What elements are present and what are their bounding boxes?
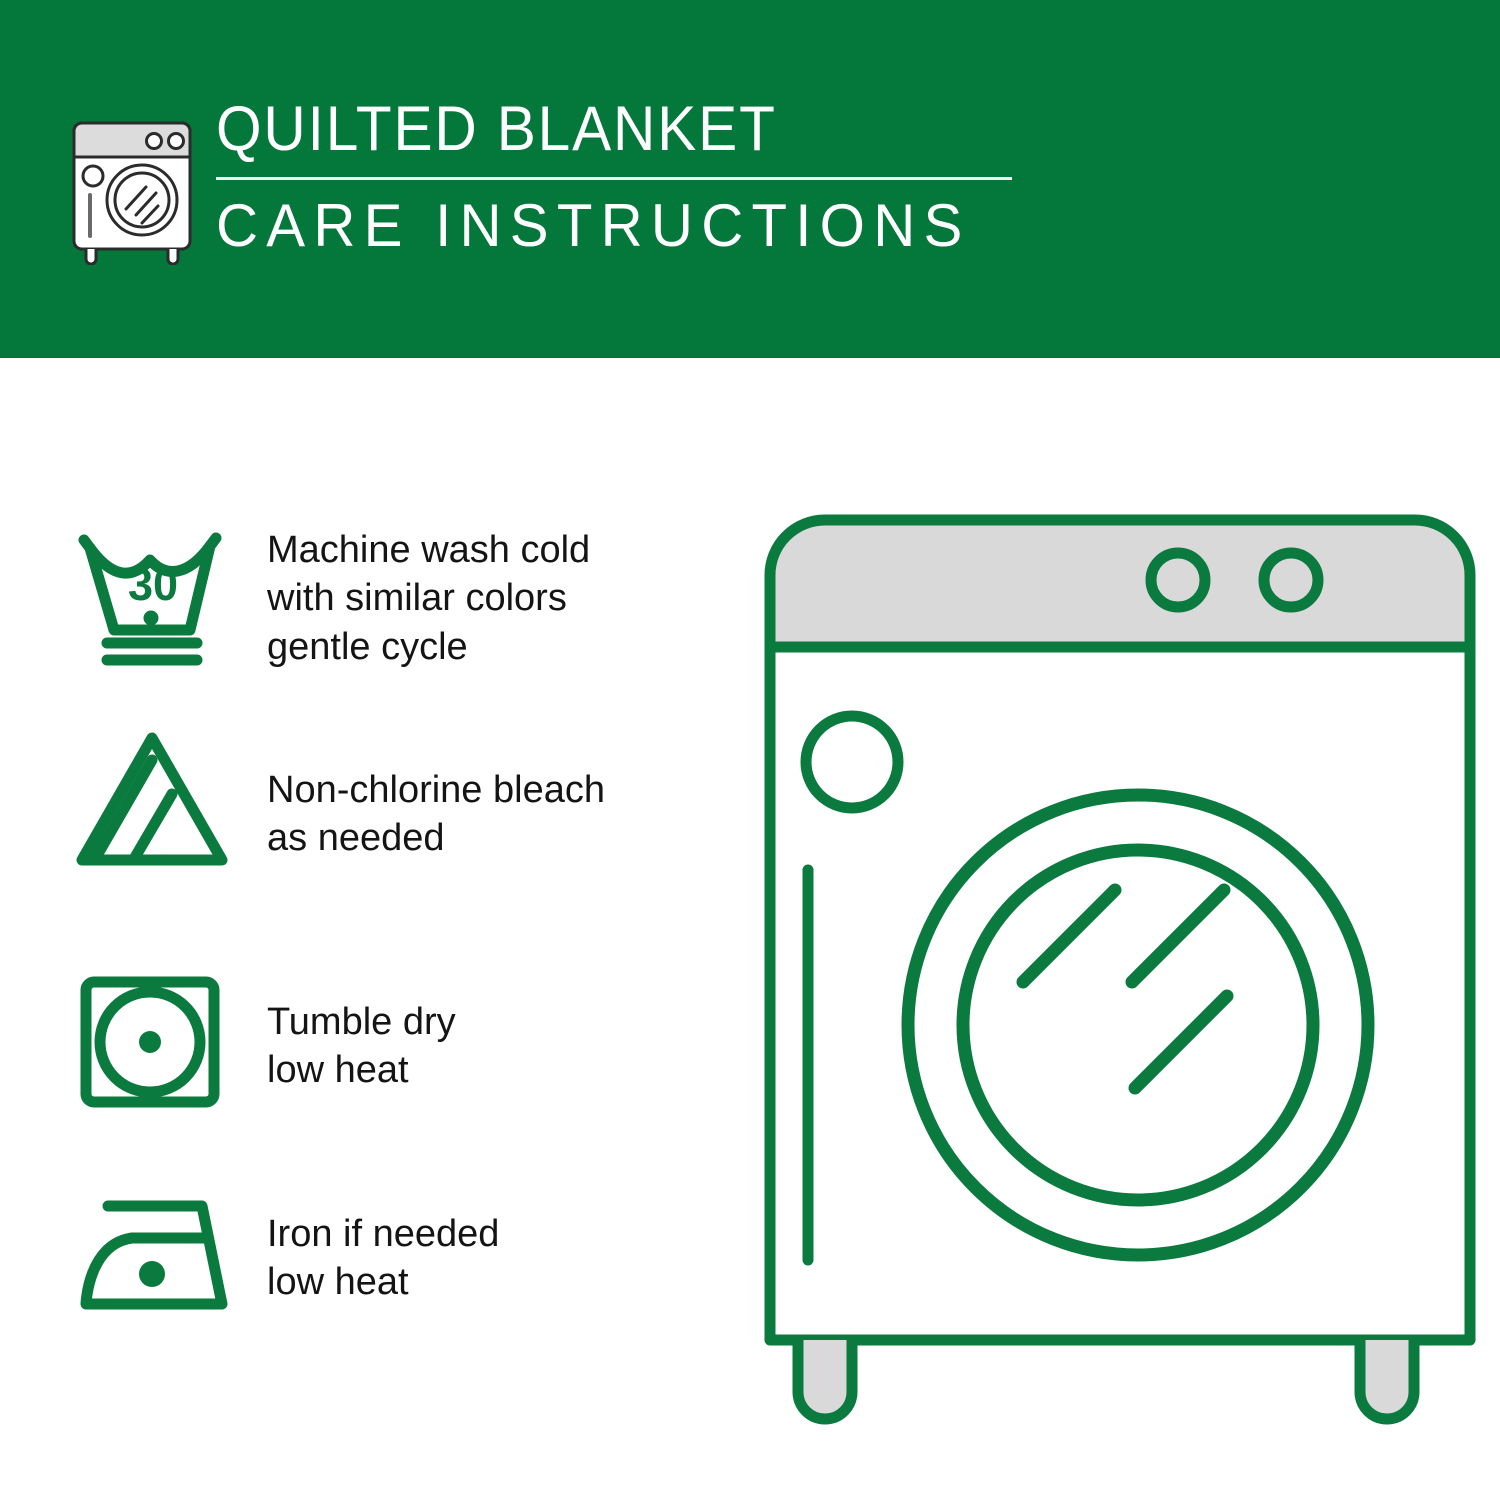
front-load-washing-machine-illustration [740, 470, 1500, 1450]
header-title-group: QUILTED BLANKET CARE INSTRUCTIONS [216, 98, 1026, 256]
leg-right [1360, 1340, 1414, 1419]
care-text-bleach: Non-chlorine bleach as needed [245, 726, 605, 863]
care-row-machine-wash: 30 Machine wash cold with similar colors… [70, 518, 720, 671]
page-subtitle: CARE INSTRUCTIONS [216, 196, 1002, 256]
care-text-iron: Iron if needed low heat [245, 1178, 499, 1307]
care-row-iron: Iron if needed low heat [70, 1178, 720, 1328]
page-title: QUILTED BLANKET [216, 98, 969, 161]
care-text-tumble-dry: Tumble dry low heat [245, 966, 456, 1095]
wash-tub-30-gentle-icon: 30 [70, 518, 245, 668]
iron-low-heat-icon [70, 1178, 245, 1328]
care-row-bleach: Non-chlorine bleach as needed [70, 726, 720, 876]
page-header: QUILTED BLANKET CARE INSTRUCTIONS [0, 0, 1500, 358]
leg-left [798, 1340, 852, 1419]
title-divider [216, 177, 1012, 180]
care-row-tumble-dry: Tumble dry low heat [70, 966, 720, 1116]
non-chlorine-bleach-triangle-icon [70, 726, 245, 876]
care-instructions-list: 30 Machine wash cold with similar colors… [0, 358, 740, 1500]
washing-machine-logo-icon [62, 105, 202, 265]
tumble-dry-low-heat-icon [70, 966, 245, 1116]
wash-temperature-label: 30 [128, 559, 178, 610]
control-panel [770, 520, 1470, 647]
care-text-machine-wash: Machine wash cold with similar colors ge… [245, 518, 590, 671]
